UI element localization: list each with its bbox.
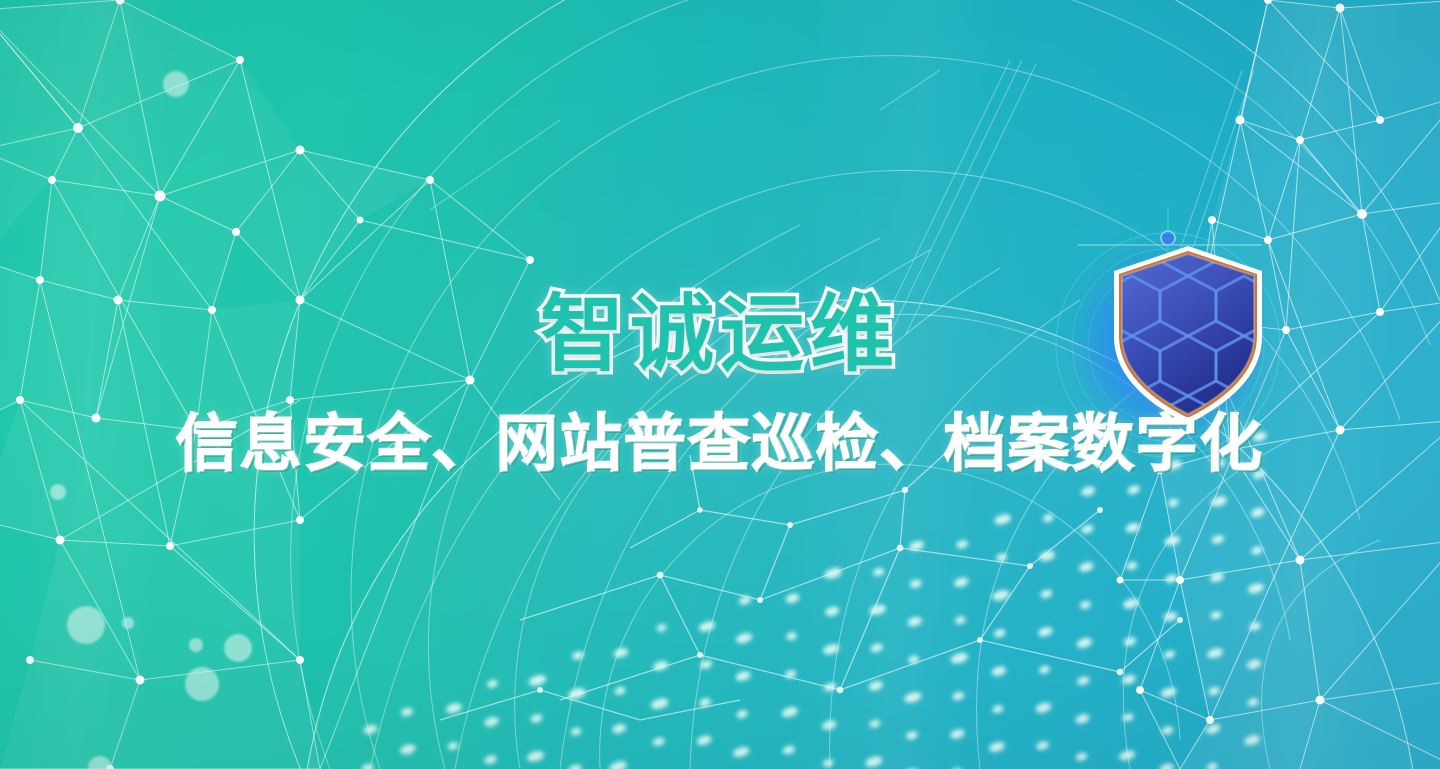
headline-block: 智诚运维 信息安全、网站普查巡检、档案数字化	[0, 292, 1440, 476]
page-title: 智诚运维	[0, 292, 1440, 376]
page-subtitle: 信息安全、网站普查巡检、档案数字化	[0, 414, 1440, 476]
promo-banner: 智诚运维 信息安全、网站普查巡检、档案数字化	[0, 0, 1440, 769]
